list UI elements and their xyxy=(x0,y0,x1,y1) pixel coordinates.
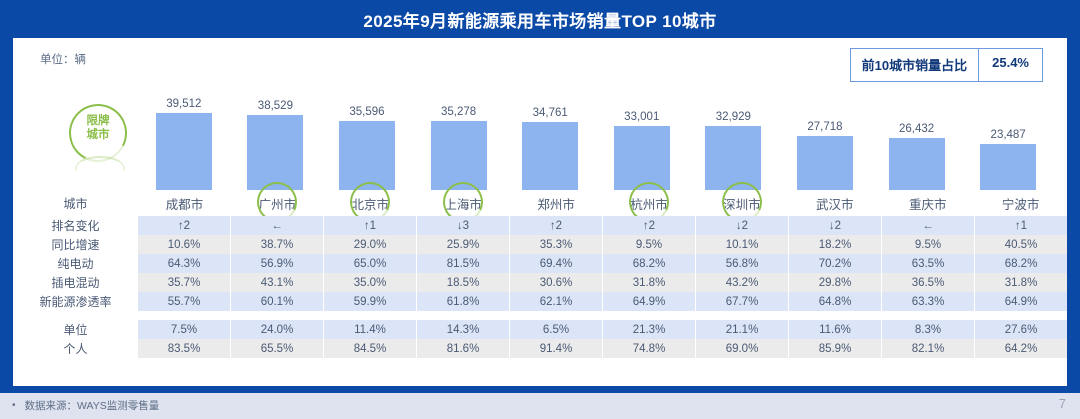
share-badge-label: 前10城市销量占比 xyxy=(851,49,979,81)
table-cell: 59.9% xyxy=(324,292,417,311)
table-cell: 21.1% xyxy=(696,320,789,339)
table-cell-empty xyxy=(417,311,510,320)
table-cell: 9.5% xyxy=(603,235,696,254)
city-cell: 宁波市 xyxy=(974,190,1067,216)
bar xyxy=(522,122,578,190)
bar-value-label: 39,512 xyxy=(166,98,201,110)
table-cell: 36.5% xyxy=(882,273,975,292)
table-cell: 9.5% xyxy=(882,235,975,254)
table-row-rank-change: 排名变化 ↑2←↑1↓3↑2↑2↓2↓2←↑1 xyxy=(13,216,1067,235)
city-cell: 武汉市 xyxy=(788,190,881,216)
table-cell: 56.8% xyxy=(696,254,789,273)
bullet-icon: • xyxy=(12,401,16,411)
table-cell: 67.7% xyxy=(696,292,789,311)
city-cell: 重庆市 xyxy=(881,190,974,216)
table-cell: 60.1% xyxy=(231,292,324,311)
table-cell: 64.9% xyxy=(975,292,1067,311)
bar-chart: 限牌 城市 39,51238,52935,59635,27834,76133,0… xyxy=(13,86,1067,190)
bar-column: 23,487 xyxy=(962,86,1054,190)
city-name-label: 宁波市 xyxy=(1002,194,1040,213)
table-cell: 68.2% xyxy=(975,254,1067,273)
row-label-city: 城市 xyxy=(13,195,138,212)
table-cell-empty xyxy=(695,311,788,320)
bar xyxy=(797,136,853,190)
cells-nev-penetration: 55.7%60.1%59.9%61.8%62.1%64.9%67.7%64.8%… xyxy=(138,292,1067,311)
table-cell: ↓3 xyxy=(417,216,510,235)
table-cell: 29.0% xyxy=(324,235,417,254)
table-cell: 30.6% xyxy=(510,273,603,292)
table-cell-empty xyxy=(881,311,974,320)
table-cell-empty xyxy=(231,311,324,320)
city-name-label: 北京市 xyxy=(352,194,390,213)
row-label-nev-penetration: 新能源渗透率 xyxy=(13,293,138,310)
city-cell: 上海市 xyxy=(417,190,510,216)
bar-value-label: 27,718 xyxy=(807,121,842,133)
license-badge-line1: 限牌 xyxy=(69,114,127,128)
unit-note: 单位：辆 xyxy=(40,51,86,67)
table-cell: 18.5% xyxy=(417,273,510,292)
bar xyxy=(705,126,761,190)
cells-phev: 35.7%43.1%35.0%18.5%30.6%31.8%43.2%29.8%… xyxy=(138,273,1067,292)
table-cell: 55.7% xyxy=(138,292,231,311)
table-row-spacer xyxy=(13,311,1067,320)
bar-value-label: 34,761 xyxy=(533,107,568,119)
table-cell: 69.0% xyxy=(696,339,789,358)
city-cell: 广州市 xyxy=(231,190,324,216)
table-cell: 84.5% xyxy=(324,339,417,358)
license-restricted-badge-text: 限牌 城市 xyxy=(69,114,127,142)
table-cell: 82.1% xyxy=(882,339,975,358)
table-cell: 83.5% xyxy=(138,339,231,358)
city-cell: 成都市 xyxy=(138,190,231,216)
cells-spacer xyxy=(138,311,1067,320)
content-card: 单位：辆 前10城市销量占比 25.4% 限牌 城市 39,51238,5293… xyxy=(13,38,1067,386)
slide-frame: 2025年9月新能源乘用车市场销量TOP 10城市 单位：辆 前10城市销量占比… xyxy=(0,0,1080,393)
badge-reflection xyxy=(75,156,125,180)
city-name-label: 成都市 xyxy=(166,194,204,213)
bar-column: 38,529 xyxy=(230,86,322,190)
table-cell: 18.2% xyxy=(789,235,882,254)
cells-fleet: 7.5%24.0%11.4%14.3%6.5%21.3%21.1%11.6%8.… xyxy=(138,320,1067,339)
table-cell: 8.3% xyxy=(882,320,975,339)
city-name-label: 上海市 xyxy=(444,194,482,213)
row-label-phev: 插电混动 xyxy=(13,274,138,291)
bar xyxy=(431,121,487,190)
table-cell: 21.3% xyxy=(603,320,696,339)
bar-column: 26,432 xyxy=(871,86,963,190)
slide: 2025年9月新能源乘用车市场销量TOP 10城市 单位：辆 前10城市销量占比… xyxy=(0,0,1080,419)
table-cell: 64.9% xyxy=(603,292,696,311)
table-cell: 64.2% xyxy=(975,339,1067,358)
table-cell: 10.6% xyxy=(138,235,231,254)
bar-columns: 39,51238,52935,59635,27834,76133,00132,9… xyxy=(138,86,1054,190)
row-label-yoy-growth: 同比增速 xyxy=(13,236,138,253)
table-cell: 68.2% xyxy=(603,254,696,273)
license-restricted-badge: 限牌 城市 xyxy=(69,104,131,166)
city-cell: 深圳市 xyxy=(695,190,788,216)
table-cell: 69.4% xyxy=(510,254,603,273)
table-row-personal: 个人 83.5%65.5%84.5%81.6%91.4%74.8%69.0%85… xyxy=(13,339,1067,358)
table-row-bev: 纯电动 64.3%56.9%65.0%81.5%69.4%68.2%56.8%7… xyxy=(13,254,1067,273)
table-cell: 7.5% xyxy=(138,320,231,339)
table-cell: 35.7% xyxy=(138,273,231,292)
city-name-label: 郑州市 xyxy=(537,194,575,213)
table-cell: 43.2% xyxy=(696,273,789,292)
table-cell: 6.5% xyxy=(510,320,603,339)
row-label-rank-change: 排名变化 xyxy=(13,217,138,234)
bar-column: 27,718 xyxy=(779,86,871,190)
table-cell: ↑1 xyxy=(975,216,1067,235)
table-cell: 10.1% xyxy=(696,235,789,254)
table-cell: 65.0% xyxy=(324,254,417,273)
city-name-label: 杭州市 xyxy=(630,194,668,213)
table-cell: ↑2 xyxy=(510,216,603,235)
bar xyxy=(614,126,670,190)
table-row-nev-penetration: 新能源渗透率 55.7%60.1%59.9%61.8%62.1%64.9%67.… xyxy=(13,292,1067,311)
slide-footer: • 数据来源：WAYS监测零售量 7 xyxy=(0,393,1080,419)
bar-column: 34,761 xyxy=(504,86,596,190)
table-cell: 31.8% xyxy=(975,273,1067,292)
title-bar: 2025年9月新能源乘用车市场销量TOP 10城市 xyxy=(0,0,1080,38)
table-cell: 11.6% xyxy=(789,320,882,339)
bar-value-label: 35,596 xyxy=(349,106,384,118)
bar-column: 33,001 xyxy=(596,86,688,190)
table-cell: 56.9% xyxy=(231,254,324,273)
table-cell: 11.4% xyxy=(324,320,417,339)
table-cell-empty xyxy=(138,311,231,320)
bar xyxy=(889,138,945,190)
city-cell: 北京市 xyxy=(324,190,417,216)
table-cell: 81.6% xyxy=(417,339,510,358)
table-row-yoy-growth: 同比增速 10.6%38.7%29.0%25.9%35.3%9.5%10.1%1… xyxy=(13,235,1067,254)
table-cell: 74.8% xyxy=(603,339,696,358)
table-cell: ↓2 xyxy=(696,216,789,235)
city-name-label: 广州市 xyxy=(259,194,297,213)
source-note: • 数据来源：WAYS监测零售量 xyxy=(12,398,159,413)
city-name-label: 重庆市 xyxy=(909,194,947,213)
table-cell: 81.5% xyxy=(417,254,510,273)
bar xyxy=(247,115,303,190)
bar xyxy=(980,144,1036,190)
row-label-fleet: 单位 xyxy=(13,321,138,338)
bar-value-label: 33,001 xyxy=(624,111,659,123)
cells-rank-change: ↑2←↑1↓3↑2↑2↓2↓2←↑1 xyxy=(138,216,1067,235)
table-cell: ↓2 xyxy=(789,216,882,235)
table-cell: 31.8% xyxy=(603,273,696,292)
table-cell: 27.6% xyxy=(975,320,1067,339)
bar-value-label: 38,529 xyxy=(258,100,293,112)
table-cell: 35.0% xyxy=(324,273,417,292)
bar-value-label: 26,432 xyxy=(899,123,934,135)
city-cell: 杭州市 xyxy=(603,190,696,216)
bar-value-label: 23,487 xyxy=(991,129,1026,141)
bar-value-label: 35,278 xyxy=(441,106,476,118)
table-cell: ← xyxy=(231,216,324,235)
page-number: 7 xyxy=(1059,396,1066,411)
bar-column: 35,596 xyxy=(321,86,413,190)
table-cell: 25.9% xyxy=(417,235,510,254)
license-badge-line2: 城市 xyxy=(69,128,127,142)
city-name-label: 武汉市 xyxy=(816,194,854,213)
table-row-fleet: 单位 7.5%24.0%11.4%14.3%6.5%21.3%21.1%11.6… xyxy=(13,320,1067,339)
bar-column: 35,278 xyxy=(413,86,505,190)
share-badge: 前10城市销量占比 25.4% xyxy=(850,48,1043,82)
cells-yoy-growth: 10.6%38.7%29.0%25.9%35.3%9.5%10.1%18.2%9… xyxy=(138,235,1067,254)
table-row-phev: 插电混动 35.7%43.1%35.0%18.5%30.6%31.8%43.2%… xyxy=(13,273,1067,292)
table-cell: ← xyxy=(882,216,975,235)
table-cell: 40.5% xyxy=(975,235,1067,254)
table-cell: 63.5% xyxy=(882,254,975,273)
cells-bev: 64.3%56.9%65.0%81.5%69.4%68.2%56.8%70.2%… xyxy=(138,254,1067,273)
table-row-city: 城市 成都市广州市北京市上海市郑州市杭州市深圳市武汉市重庆市宁波市 xyxy=(13,190,1067,216)
table-cell: ↑2 xyxy=(138,216,231,235)
bar-value-label: 32,929 xyxy=(716,111,751,123)
bar-column: 32,929 xyxy=(688,86,780,190)
table-cell: 64.8% xyxy=(789,292,882,311)
row-label-personal: 个人 xyxy=(13,340,138,357)
bar xyxy=(156,113,212,190)
table-cell: 35.3% xyxy=(510,235,603,254)
table-cell: 29.8% xyxy=(789,273,882,292)
table-cell: 62.1% xyxy=(510,292,603,311)
table-cell: 70.2% xyxy=(789,254,882,273)
source-text: 数据来源：WAYS监测零售量 xyxy=(25,398,160,413)
table-cell: 63.3% xyxy=(882,292,975,311)
bar xyxy=(339,121,395,190)
metrics-table: 城市 成都市广州市北京市上海市郑州市杭州市深圳市武汉市重庆市宁波市 排名变化 ↑… xyxy=(13,190,1067,358)
bar-column: 39,512 xyxy=(138,86,230,190)
table-cell: 64.3% xyxy=(138,254,231,273)
table-cell: ↑2 xyxy=(603,216,696,235)
table-cell: 61.8% xyxy=(417,292,510,311)
table-cell-empty xyxy=(974,311,1067,320)
table-cell-empty xyxy=(603,311,696,320)
table-cell: 38.7% xyxy=(231,235,324,254)
city-name-label: 深圳市 xyxy=(723,194,761,213)
table-cell: 14.3% xyxy=(417,320,510,339)
table-cell: 91.4% xyxy=(510,339,603,358)
table-cell: 65.5% xyxy=(231,339,324,358)
city-cells: 成都市广州市北京市上海市郑州市杭州市深圳市武汉市重庆市宁波市 xyxy=(138,190,1067,216)
share-badge-value: 25.4% xyxy=(979,49,1042,81)
table-cell: ↑1 xyxy=(324,216,417,235)
table-cell-empty xyxy=(788,311,881,320)
cells-personal: 83.5%65.5%84.5%81.6%91.4%74.8%69.0%85.9%… xyxy=(138,339,1067,358)
table-cell: 43.1% xyxy=(231,273,324,292)
page-title: 2025年9月新能源乘用车市场销量TOP 10城市 xyxy=(363,7,716,32)
row-label-bev: 纯电动 xyxy=(13,255,138,272)
table-cell-empty xyxy=(324,311,417,320)
city-cell: 郑州市 xyxy=(510,190,603,216)
table-cell: 24.0% xyxy=(231,320,324,339)
table-cell: 85.9% xyxy=(789,339,882,358)
table-cell-empty xyxy=(510,311,603,320)
